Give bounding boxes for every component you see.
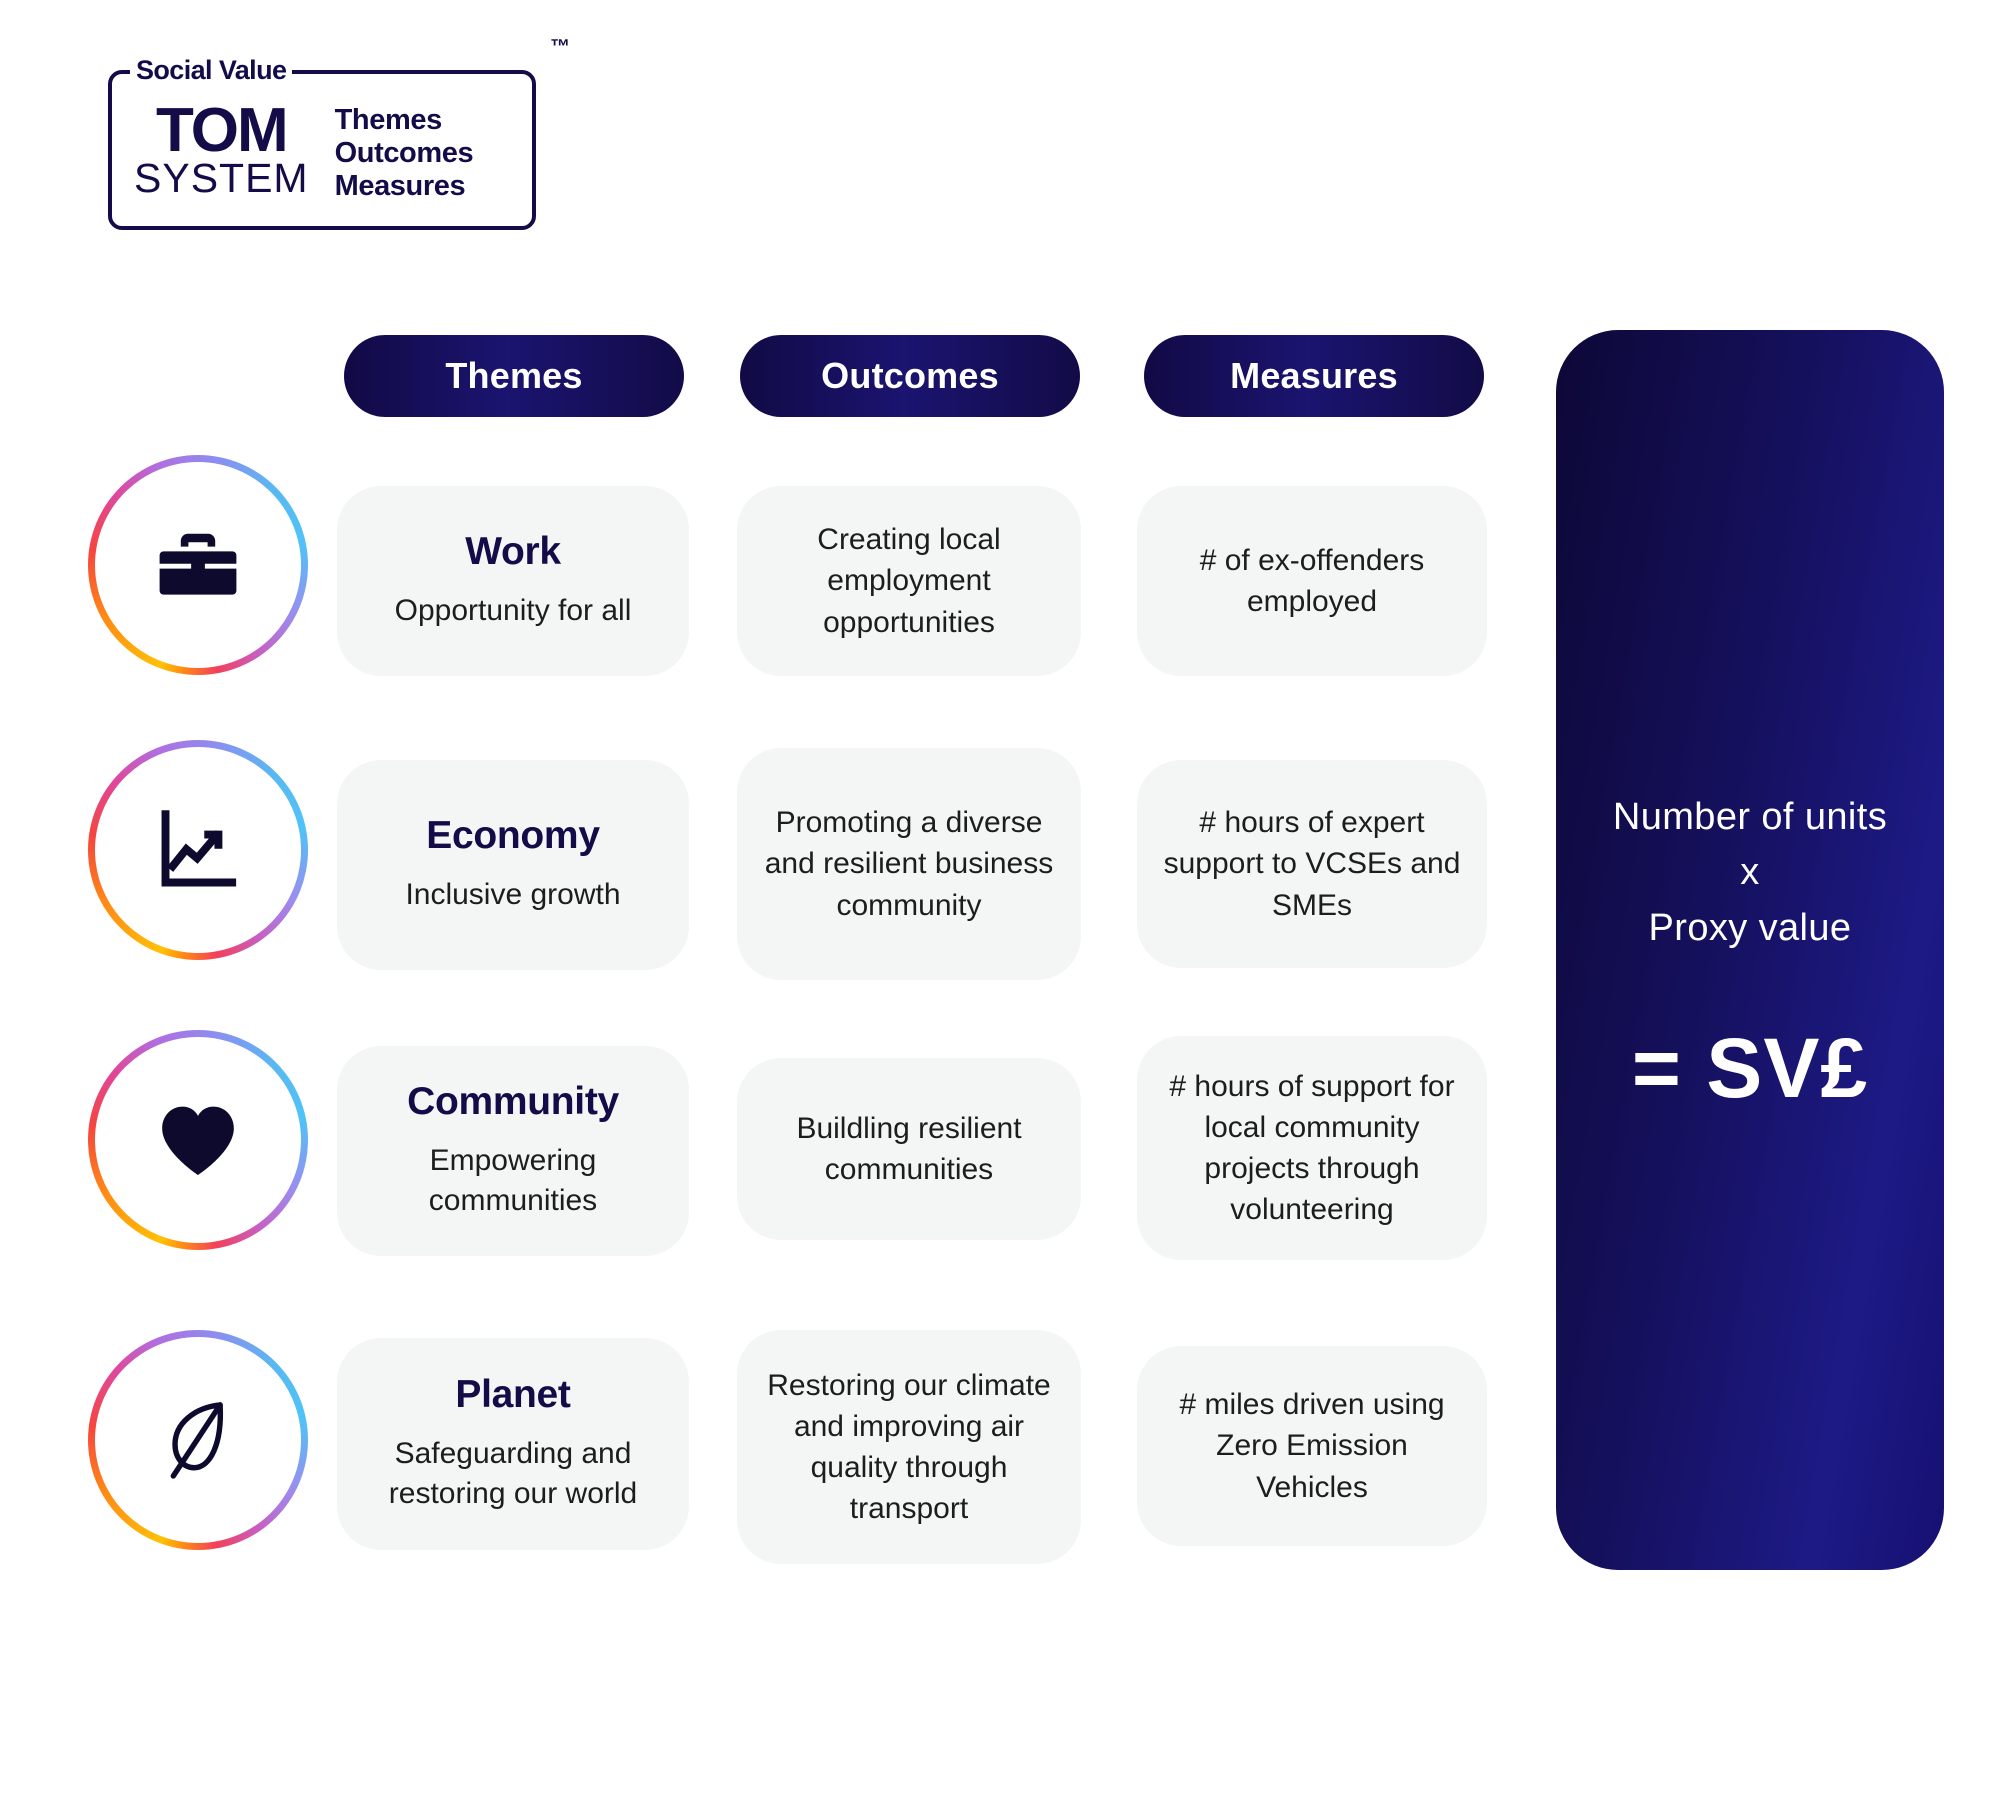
logo-tagline-outcomes: Outcomes (335, 137, 474, 170)
outcome-text: Promoting a diverse and resilient busine… (763, 802, 1055, 925)
theme-icon-ring-economy (88, 740, 308, 960)
theme-title: Work (465, 530, 561, 575)
outcome-text: Restoring our climate and improving air … (763, 1365, 1055, 1529)
theme-icon-ring-planet (88, 1330, 308, 1550)
outcome-text: Buildling resilient communities (763, 1108, 1055, 1190)
infographic-canvas: Social Value ™ TOM SYSTEM Themes Outcome… (0, 0, 2000, 1800)
measure-text: # hours of expert support to VCSEs and S… (1163, 802, 1461, 925)
theme-card-community: Community Empowering communities (337, 1046, 689, 1256)
measure-card-planet: # miles driven using Zero Emission Vehic… (1137, 1346, 1487, 1546)
measure-text: # miles driven using Zero Emission Vehic… (1163, 1384, 1461, 1507)
logo-system-text: SYSTEM (134, 158, 309, 199)
outcome-card-community: Buildling resilient communities (737, 1058, 1081, 1240)
heart-icon (95, 1037, 301, 1243)
logo-wordmark: TOM SYSTEM (134, 100, 309, 199)
theme-subtitle: Empowering communities (363, 1141, 663, 1221)
theme-subtitle: Inclusive growth (405, 875, 620, 915)
column-header-measures: Measures (1144, 335, 1484, 417)
social-value-tom-system-logo: Social Value ™ TOM SYSTEM Themes Outcome… (108, 70, 536, 230)
logo-tagline-themes: Themes (335, 104, 474, 137)
theme-card-economy: Economy Inclusive growth (337, 760, 689, 970)
outcome-card-economy: Promoting a diverse and resilient busine… (737, 748, 1081, 980)
briefcase-icon (95, 462, 301, 668)
leaf-icon (95, 1337, 301, 1543)
measure-card-community: # hours of support for local community p… (1137, 1036, 1487, 1260)
theme-icon-ring-work (88, 455, 308, 675)
logo-tom-text: TOM (156, 100, 287, 162)
logo-social-value-notch: Social Value (130, 54, 292, 86)
trademark-icon: ™ (550, 36, 570, 59)
formula-block: Number of units x Proxy value (1613, 790, 1887, 955)
column-header-measures-label: Measures (1230, 355, 1398, 397)
logo-tagline-measures: Measures (335, 170, 474, 203)
column-header-themes-label: Themes (445, 355, 582, 397)
outcome-text: Creating local employment opportunities (763, 519, 1055, 642)
social-value-formula-panel: Number of units x Proxy value = SV£ (1556, 330, 1944, 1570)
measure-text: # of ex-offenders employed (1163, 540, 1461, 622)
measure-card-work: # of ex-offenders employed (1137, 486, 1487, 676)
formula-line-proxy: Proxy value (1613, 901, 1887, 956)
theme-card-planet: Planet Safeguarding and restoring our wo… (337, 1338, 689, 1550)
theme-title: Planet (455, 1373, 570, 1418)
outcome-card-planet: Restoring our climate and improving air … (737, 1330, 1081, 1564)
measure-card-economy: # hours of expert support to VCSEs and S… (1137, 760, 1487, 968)
logo-social-value-text: Social Value (136, 54, 286, 86)
outcome-card-work: Creating local employment opportunities (737, 486, 1081, 676)
theme-title: Economy (426, 814, 599, 859)
theme-title: Community (407, 1080, 619, 1125)
measure-text: # hours of support for local community p… (1163, 1066, 1461, 1230)
theme-card-work: Work Opportunity for all (337, 486, 689, 676)
logo-tagline: Themes Outcomes Measures (335, 100, 474, 202)
column-header-outcomes: Outcomes (740, 335, 1080, 417)
logo-content: TOM SYSTEM Themes Outcomes Measures (134, 100, 518, 220)
formula-operator: x (1613, 845, 1887, 900)
theme-icon-ring-community (88, 1030, 308, 1250)
formula-result: = SV£ (1632, 1026, 1868, 1110)
theme-subtitle: Opportunity for all (395, 591, 632, 631)
growth-chart-icon (95, 747, 301, 953)
column-header-themes: Themes (344, 335, 684, 417)
formula-line-units: Number of units (1613, 790, 1887, 845)
theme-subtitle: Safeguarding and restoring our world (363, 1434, 663, 1514)
column-header-outcomes-label: Outcomes (821, 355, 999, 397)
